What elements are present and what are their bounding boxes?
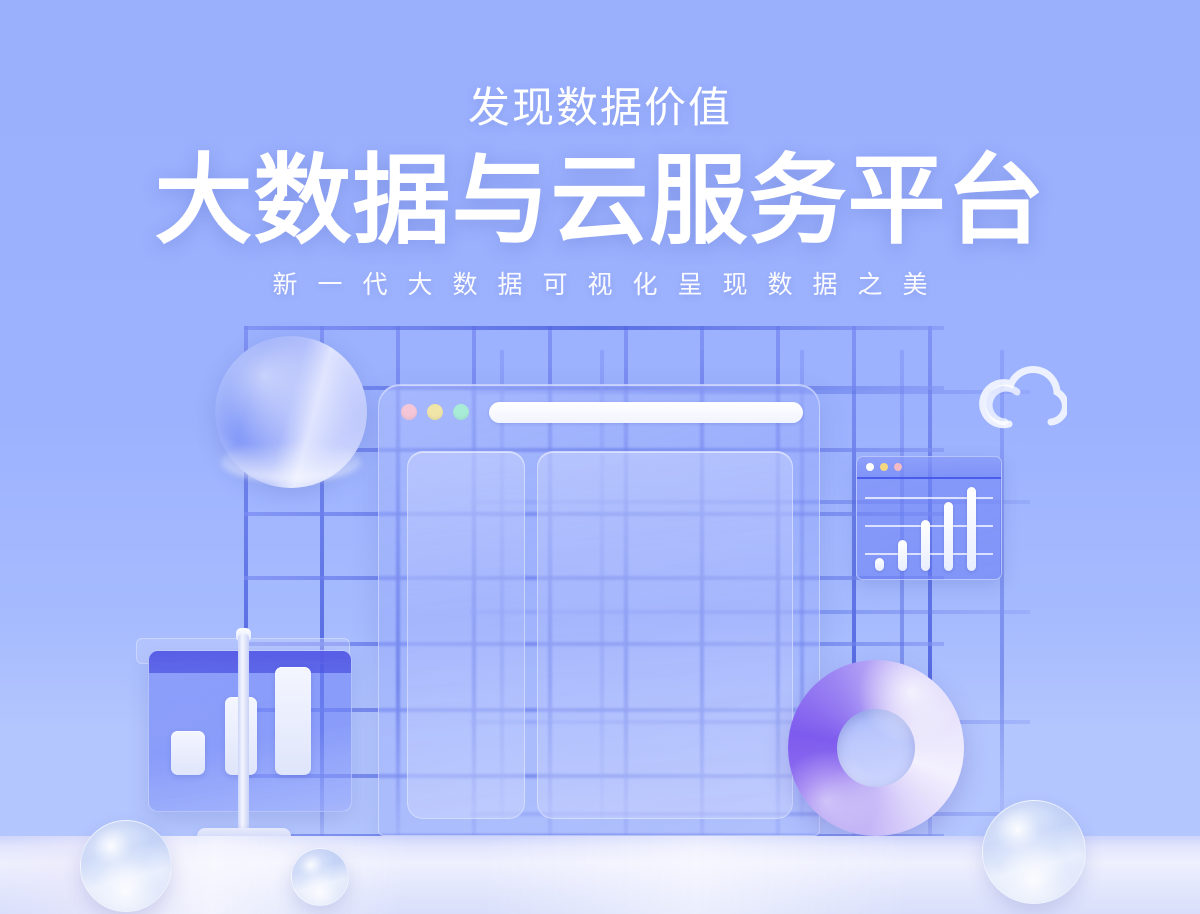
chart-bar	[967, 487, 976, 571]
chart-bar	[875, 558, 884, 571]
mini-bar-chart	[857, 481, 1001, 581]
address-bar-input[interactable]	[489, 402, 803, 423]
left-bar-chart-panel[interactable]	[148, 650, 352, 812]
hero-banner: 发现数据价值 大数据与云服务平台 新一代大数据可视化呈现数据之美	[0, 0, 1200, 914]
page-title: 大数据与云服务平台	[0, 149, 1200, 253]
chart-bar	[944, 502, 953, 571]
chart-bar	[171, 731, 205, 775]
chart-bar	[275, 667, 311, 775]
traffic-light-minimize-icon[interactable]	[427, 404, 443, 420]
glass-sphere-decor	[215, 336, 367, 488]
mini-chart-window[interactable]	[856, 456, 1002, 580]
donut-ring-decor	[788, 660, 964, 836]
glass-sphere-right	[982, 800, 1086, 904]
hero-text-block: 发现数据价值 大数据与云服务平台 新一代大数据可视化呈现数据之美	[0, 84, 1200, 301]
browser-window[interactable]	[378, 384, 820, 836]
mini-traffic-light-maximize-icon[interactable]	[894, 463, 902, 471]
browser-titlebar	[379, 385, 819, 439]
glass-sphere-left	[80, 820, 172, 912]
traffic-light-close-icon[interactable]	[401, 404, 417, 420]
mini-traffic-light-close-icon[interactable]	[866, 463, 874, 471]
left-panel-titlebar	[149, 651, 351, 673]
traffic-light-maximize-icon[interactable]	[453, 404, 469, 420]
cloud-icon	[975, 362, 1067, 434]
hero-tagline: 新一代大数据可视化呈现数据之美	[0, 265, 1200, 301]
chart-bar	[921, 520, 930, 571]
mini-traffic-light-minimize-icon[interactable]	[880, 463, 888, 471]
stand-pole	[238, 634, 249, 838]
glass-sphere-mid	[291, 848, 349, 906]
browser-sidebar-pane[interactable]	[407, 451, 525, 819]
hero-eyebrow: 发现数据价值	[0, 84, 1200, 131]
browser-content-pane[interactable]	[537, 451, 793, 819]
mini-window-titlebar	[857, 457, 1001, 479]
chart-bar	[898, 540, 907, 571]
